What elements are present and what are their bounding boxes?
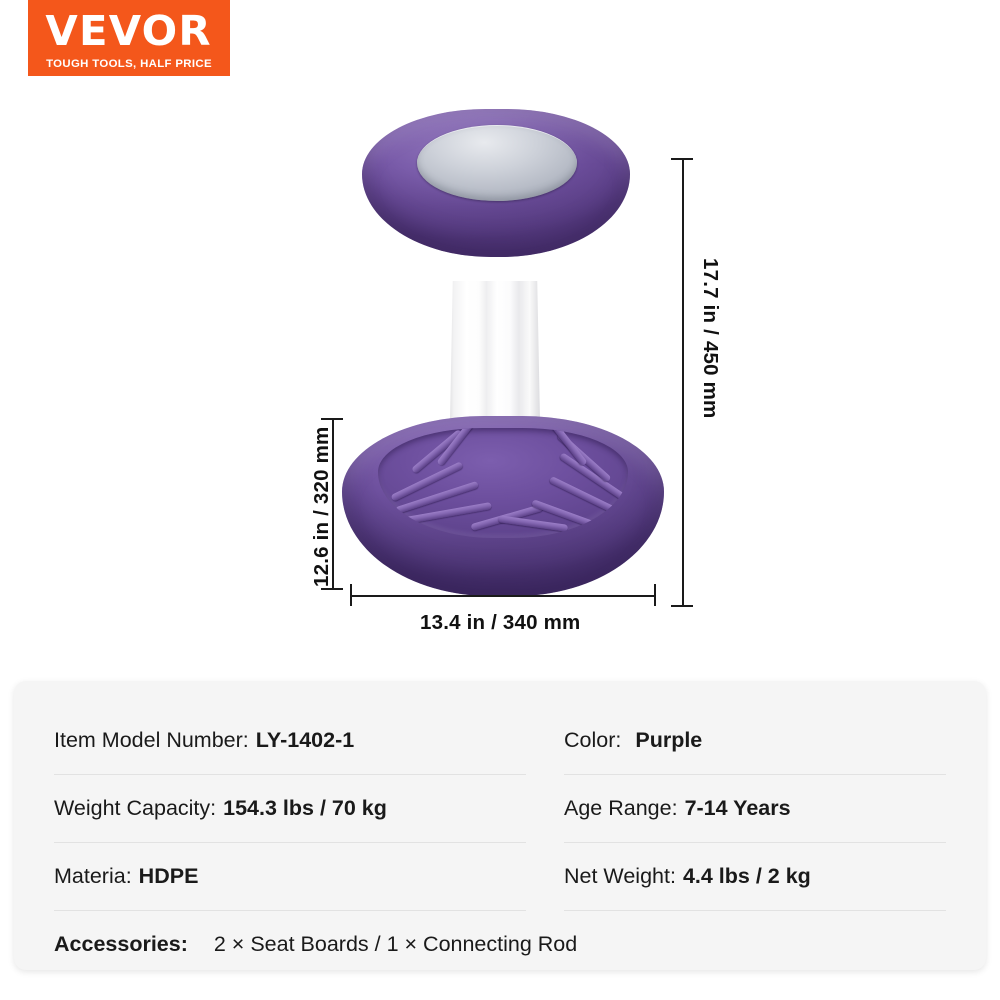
base-height-dimension-label: 12.6 in / 320 mm [310,427,334,587]
spec-value-age-range: 7-14 Years [685,796,791,822]
height-dimension-label: 17.7 in / 450 mm [698,258,722,418]
width-dimension-line [350,595,656,597]
spec-label-item-model-number: Item Model Number: [54,728,249,754]
brand-name: VEVOR [46,11,212,52]
product-illustration: 17.7 in / 450 mm 12.6 in / 320 mm 13.4 i… [0,76,1000,656]
spec-value-weight-capacity: 154.3 lbs / 70 kg [223,796,387,822]
brand-tagline: TOUGH TOOLS, HALF PRICE [46,59,212,70]
spec-value-item-model-number: LY-1402-1 [256,728,354,754]
spec-row-materia: Materia: HDPE [54,843,526,911]
base-tread-pad [378,428,628,538]
base-height-dimension-tick-top [321,418,343,420]
width-dimension-tick-right [654,584,656,606]
spec-label-accessories: Accessories: [54,932,188,957]
spec-row-accessories: Accessories: 2 × Seat Boards / 1 × Conne… [54,911,946,977]
spec-row-age-range: Age Range: 7-14 Years [564,775,946,843]
width-dimension-label: 13.4 in / 340 mm [420,611,580,635]
stool-base [342,416,664,596]
spec-value-net-weight: 4.4 lbs / 2 kg [683,864,811,890]
specification-grid: Item Model Number: LY-1402-1 Color: Purp… [54,707,946,911]
spec-label-materia: Materia: [54,864,132,890]
spec-row-item-model-number: Item Model Number: LY-1402-1 [54,707,526,775]
specification-panel: Item Model Number: LY-1402-1 Color: Purp… [14,681,986,970]
spec-row-color: Color: Purple [564,707,946,775]
base-height-dimension-tick-bottom [321,588,343,590]
spec-row-net-weight: Net Weight: 4.4 lbs / 2 kg [564,843,946,911]
width-dimension-tick-left [350,584,352,606]
spec-value-materia: HDPE [139,864,199,890]
height-dimension-tick-top [671,158,693,160]
spec-row-weight-capacity: Weight Capacity: 154.3 lbs / 70 kg [54,775,526,843]
spec-label-color: Color: [564,728,621,754]
height-dimension-tick-bottom [671,605,693,607]
spec-label-net-weight: Net Weight: [564,864,676,890]
stool-seat [362,109,630,257]
spec-value-color: Purple [635,728,702,754]
spec-label-weight-capacity: Weight Capacity: [54,796,216,822]
spec-value-accessories: 2 × Seat Boards / 1 × Connecting Rod [214,932,577,957]
height-dimension-line [682,158,684,606]
brand-logo: VEVOR TOUGH TOOLS, HALF PRICE [28,0,230,76]
spec-label-age-range: Age Range: [564,796,678,822]
seat-insert-disc [417,125,577,201]
